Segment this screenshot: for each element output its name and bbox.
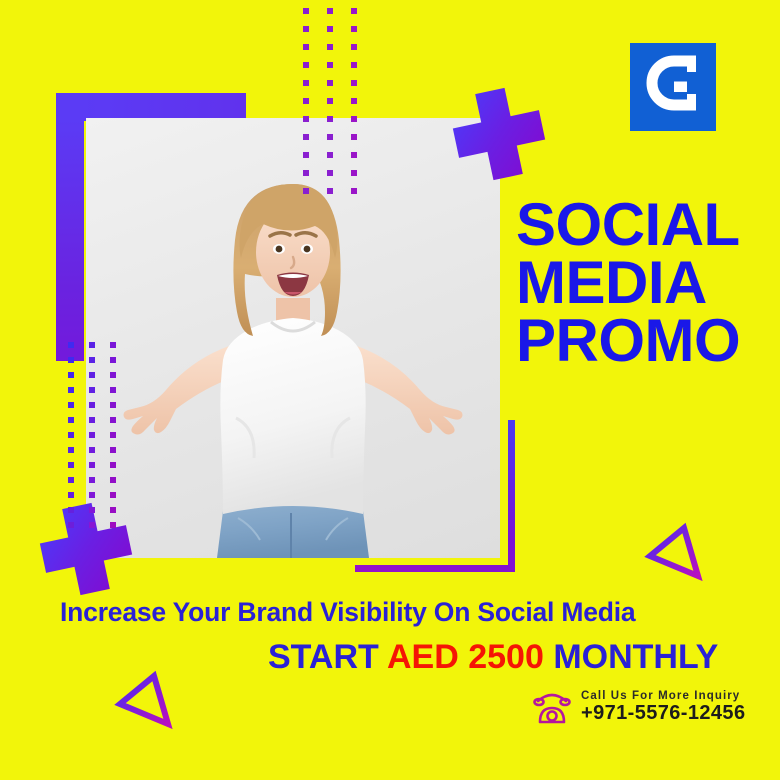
corner-bracket-thin — [355, 420, 515, 572]
promo-poster: SOCIAL MEDIA PROMO Increase Your Brand V… — [0, 0, 780, 780]
price-suffix: MONTHLY — [553, 638, 718, 676]
price-prefix: START — [268, 638, 379, 676]
dot-grid-left — [68, 342, 116, 528]
page-title: SOCIAL MEDIA PROMO — [516, 196, 776, 371]
e-monogram-icon — [630, 43, 716, 131]
price-amount: AED 2500 — [387, 638, 544, 676]
contact-number[interactable]: +971-5576-12456 — [581, 703, 745, 724]
brand-logo[interactable] — [630, 43, 716, 131]
headline-line-1: SOCIAL — [516, 196, 776, 254]
dot-grid-top — [303, 8, 357, 194]
triangle-outline-right — [640, 520, 710, 590]
tagline: Increase Your Brand Visibility On Social… — [60, 597, 635, 628]
headline-line-2: MEDIA — [516, 254, 776, 312]
plus-shape-top — [447, 82, 551, 186]
telephone-icon — [532, 688, 572, 726]
headline-line-3: PROMO — [516, 312, 776, 370]
contact-block[interactable]: Call Us For More Inquiry +971-5576-12456 — [532, 688, 745, 726]
contact-label: Call Us For More Inquiry — [581, 690, 745, 702]
price-line: START AED 2500 MONTHLY — [268, 638, 718, 677]
triangle-outline-bottom-left — [110, 668, 180, 738]
